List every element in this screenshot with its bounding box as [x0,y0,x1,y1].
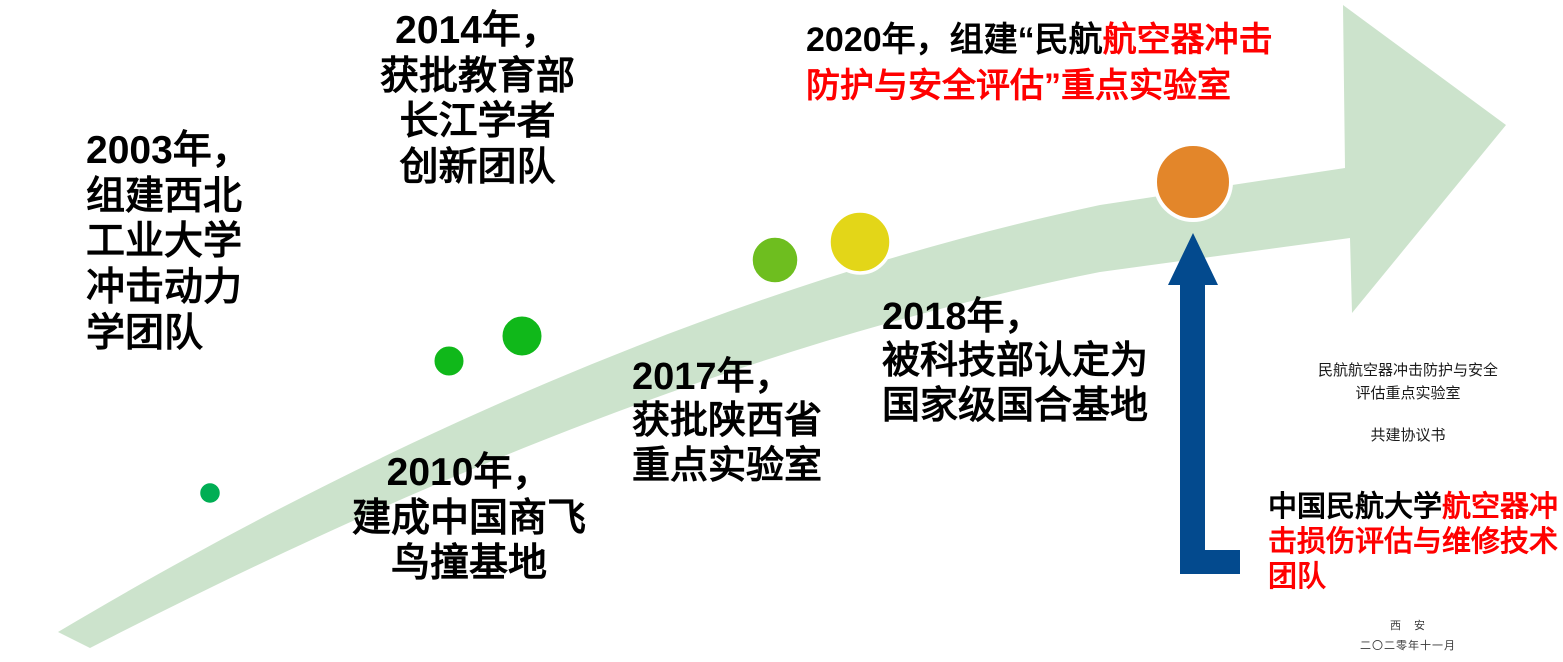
milestone-label-2017: 2017年， 获批陕西省 重点实验室 [632,355,822,488]
milestone-dot-2003 [199,482,221,504]
milestone-label-2018: 2018年， 被科技部认定为 国家级国合基地 [882,295,1148,428]
milestone-label-2020-line2-red: 防护与安全评估”重点实验室 [806,67,1231,105]
milestone-label-2020: 2020年，组建“民航航空器冲击防护与安全评估”重点实验室 [806,18,1273,110]
milestone-label-2014: 2014年， 获批教育部 长江学者 创新团队 [380,8,575,191]
date-text: 二〇二零年十一月 [1360,640,1456,652]
team-label-black-part: 中国民航大学 [1268,491,1442,523]
agreement-title-line1: 民航航空器冲击防护与安全 [1318,362,1498,379]
team-label: 中国民航大学航空器冲击损伤评估与维修技术团队 [1268,490,1560,594]
place-text: 西 安 [1390,620,1426,632]
milestone-label-2003: 2003年， 组建西北 工业大学 冲击动力 学团队 [86,128,251,356]
milestone-dot-2018 [829,211,891,273]
agreement-caption: 民航航空器冲击防护与安全 评估重点实验室 共建协议书 [1268,360,1548,448]
milestone-dot-2014 [501,315,543,357]
milestone-dot-2020 [1155,144,1231,220]
milestone-label-2010: 2010年， 建成中国商飞 鸟撞基地 [352,450,586,587]
timeline-diagram: 2003年， 组建西北 工业大学 冲击动力 学团队 2010年， 建成中国商飞 … [0,0,1563,662]
blue-callout-arrow [1168,233,1240,574]
agreement-subtitle: 共建协议书 [1370,427,1445,444]
milestone-dot-2010 [433,345,465,377]
agreement-title-line2: 评估重点实验室 [1355,385,1460,402]
milestone-dot-2017 [751,236,799,284]
agreement-spacer [1268,405,1548,425]
milestone-label-2020-line1-red: 航空器冲击 [1103,21,1273,59]
milestone-label-2020-line1-black: 2020年，组建“民航 [806,21,1103,59]
place-date-block: 西 安 二〇二零年十一月 [1268,616,1548,657]
